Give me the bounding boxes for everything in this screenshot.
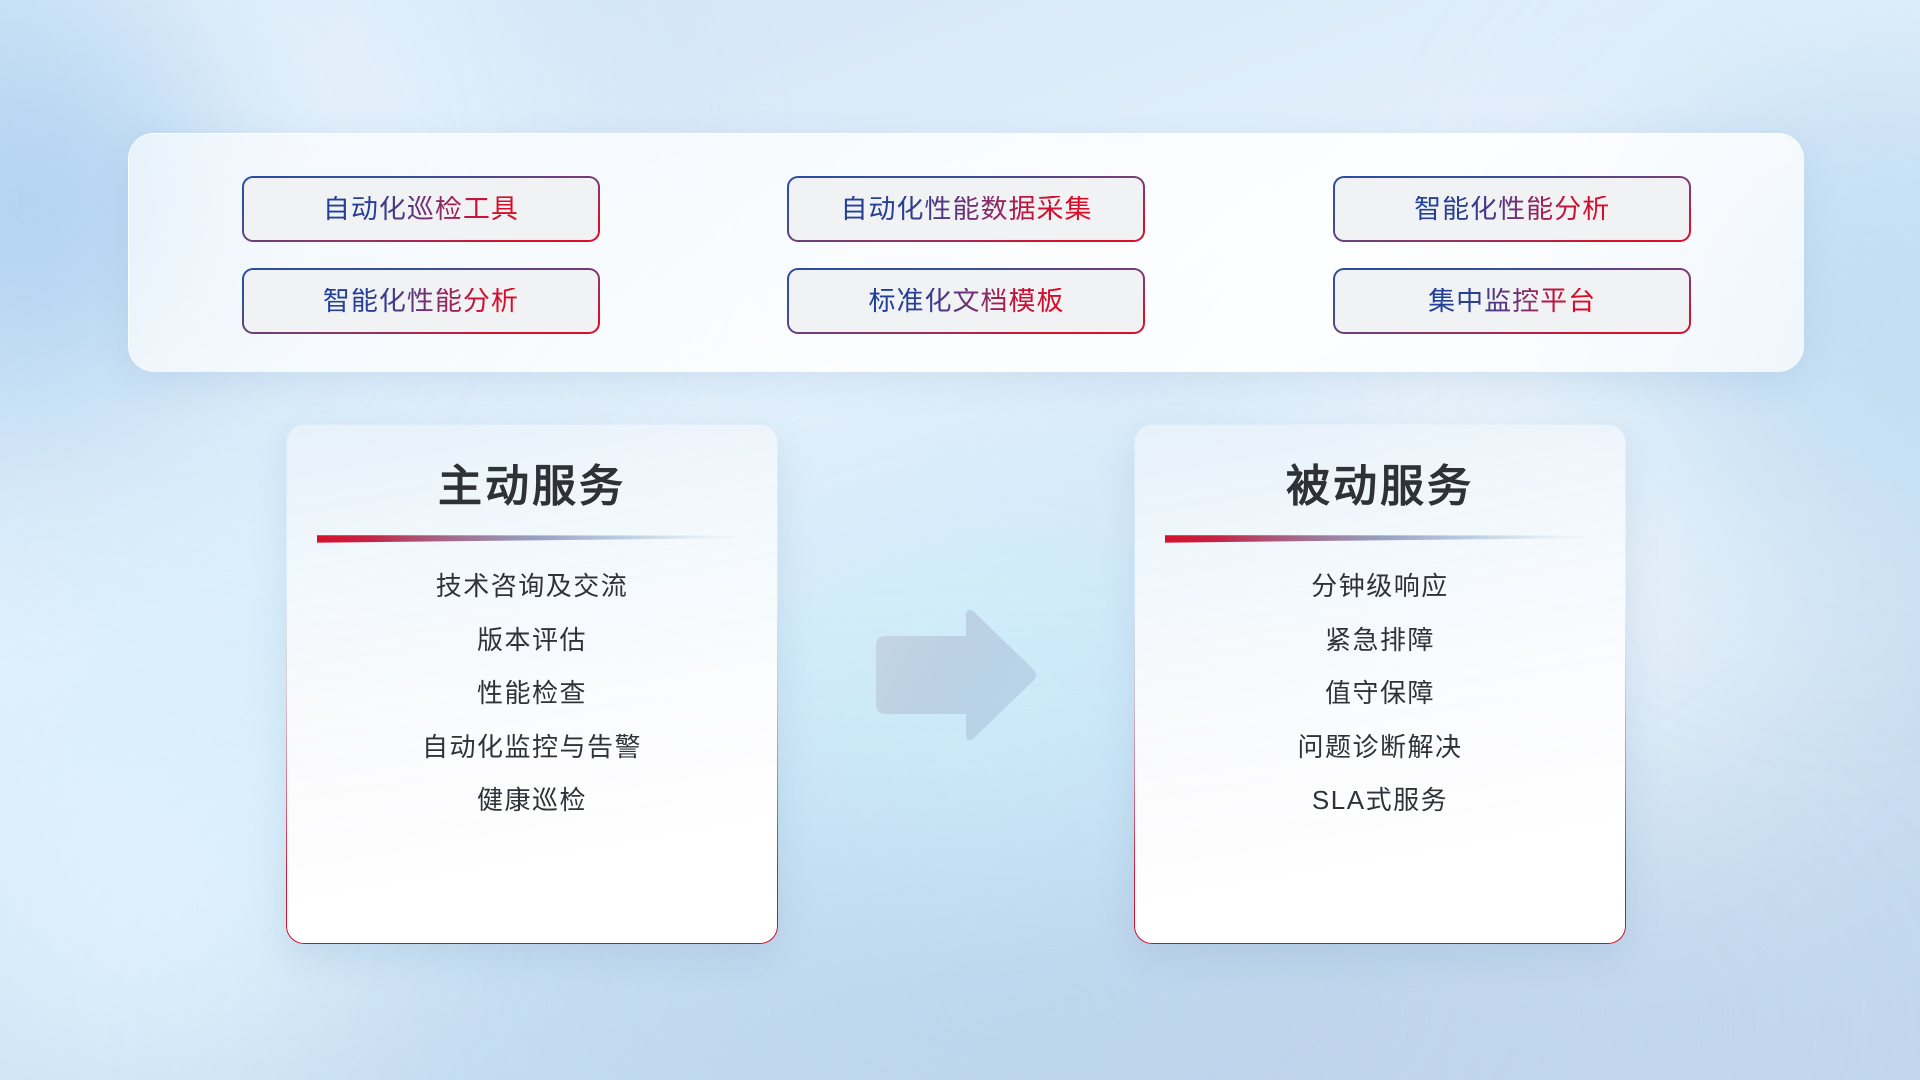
capability-chip-label: 智能化性能分析 bbox=[323, 288, 519, 315]
list-item: 技术咨询及交流 bbox=[436, 570, 629, 603]
list-item: 分钟级响应 bbox=[1311, 570, 1449, 603]
list-item: 自动化监控与告警 bbox=[422, 731, 642, 764]
capability-chip-label: 自动化性能数据采集 bbox=[840, 196, 1092, 223]
capability-chip-4[interactable]: 智能化性能分析 bbox=[242, 268, 600, 334]
list-item: 健康巡检 bbox=[477, 784, 587, 817]
list-item: 值守保障 bbox=[1325, 677, 1435, 710]
proactive-service-card: 主动服务 技术咨询及交流 版本评估 性能检查 bbox=[286, 424, 778, 944]
capability-chip-2[interactable]: 自动化性能数据采集 bbox=[787, 176, 1145, 242]
capability-chip-1[interactable]: 自动化巡检工具 bbox=[242, 176, 600, 242]
capability-chip-5[interactable]: 标准化文档模板 bbox=[787, 268, 1145, 334]
reactive-card-title: 被动服务 bbox=[1286, 463, 1474, 511]
list-item: 性能检查 bbox=[477, 677, 587, 710]
reactive-service-card: 被动服务 分钟级响应 紧急排障 值守保障 bbox=[1134, 424, 1626, 944]
capability-panel: 自动化巡检工具 自动化性能数据采集 智能化性能分析 智能化性能分析 标准化文档模… bbox=[128, 133, 1804, 372]
list-item: SLA式服务 bbox=[1312, 784, 1448, 817]
capability-chip-6[interactable]: 集中监控平台 bbox=[1333, 268, 1691, 334]
flow-arrow-right-icon bbox=[866, 608, 1038, 743]
list-item: 版本评估 bbox=[477, 624, 587, 657]
list-item: 问题诊断解决 bbox=[1297, 731, 1462, 764]
capability-chip-label: 自动化巡检工具 bbox=[323, 196, 519, 223]
reactive-card-divider bbox=[1165, 533, 1595, 544]
reactive-card-item-list: 分钟级响应 紧急排障 值守保障 问题诊断解决 SLA式服务 bbox=[1135, 570, 1625, 817]
capability-chip-label: 集中监控平台 bbox=[1428, 288, 1596, 315]
capability-chip-label: 标准化文档模板 bbox=[868, 288, 1064, 315]
capability-chip-label: 智能化性能分析 bbox=[1414, 196, 1610, 223]
proactive-card-divider bbox=[317, 533, 747, 544]
capability-chip-3[interactable]: 智能化性能分析 bbox=[1333, 176, 1691, 242]
list-item: 紧急排障 bbox=[1325, 624, 1435, 657]
proactive-card-title: 主动服务 bbox=[438, 463, 626, 511]
proactive-card-item-list: 技术咨询及交流 版本评估 性能检查 自动化监控与告警 健康巡检 bbox=[287, 570, 777, 817]
slide-stage: 自动化巡检工具 自动化性能数据采集 智能化性能分析 智能化性能分析 标准化文档模… bbox=[0, 0, 1920, 1080]
